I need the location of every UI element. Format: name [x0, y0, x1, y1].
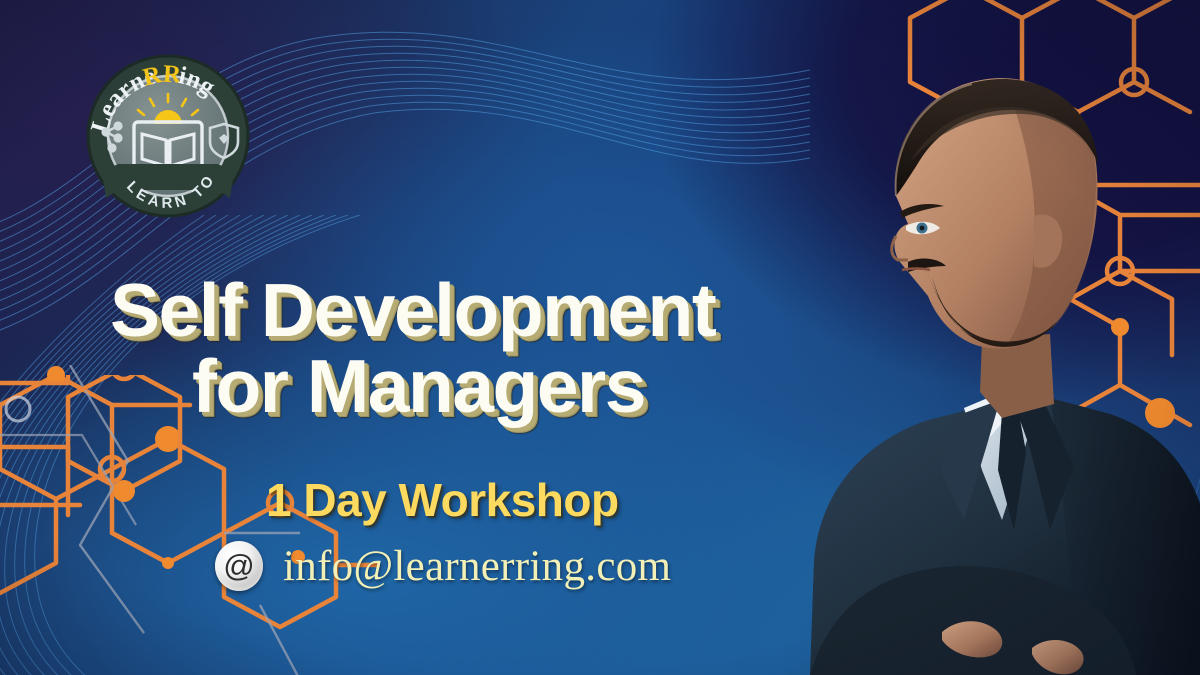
background-vignette	[0, 0, 1200, 675]
event-banner: Learne RR ing	[0, 0, 1200, 675]
